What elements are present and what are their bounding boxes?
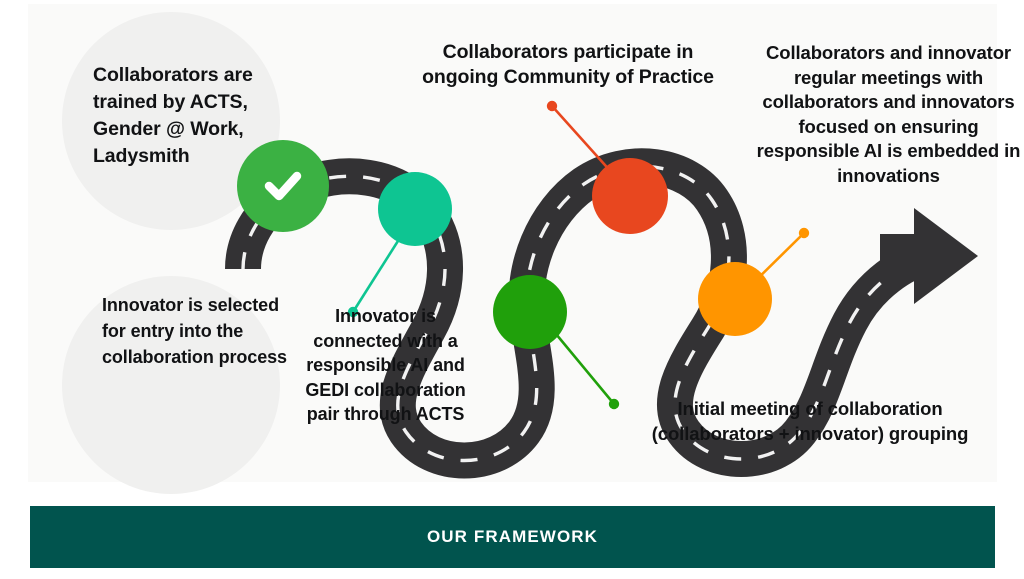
step-label-regular-meetings: Collaborators and innovator regular meet…	[756, 41, 1021, 188]
step-label-selected: Innovator is selected for entry into the…	[102, 292, 287, 370]
arrow-right-icon	[880, 208, 978, 304]
step-label-connected: Innovator is connected with a responsibl…	[303, 304, 468, 427]
step-label-trained: Collaborators are trained by ACTS, Gende…	[93, 62, 303, 170]
infographic-page: Collaborators are trained by ACTS, Gende…	[0, 0, 1024, 579]
step-label-initial-meeting: Initial meeting of collaboration (collab…	[650, 397, 970, 446]
connector-red	[547, 101, 622, 184]
connector-green	[556, 334, 619, 409]
footer-title: OUR FRAMEWORK	[427, 527, 598, 547]
step-label-community-of-practice: Collaborators participate in ongoing Com…	[408, 40, 728, 90]
connector-orange	[744, 228, 809, 292]
connector-teal	[348, 222, 410, 317]
node-red[interactable]	[592, 158, 668, 234]
node-green[interactable]	[493, 275, 567, 349]
node-orange[interactable]	[698, 262, 772, 336]
node-teal[interactable]	[378, 172, 452, 246]
diagram-canvas: Collaborators are trained by ACTS, Gende…	[28, 4, 997, 482]
footer-banner: OUR FRAMEWORK	[30, 506, 995, 568]
